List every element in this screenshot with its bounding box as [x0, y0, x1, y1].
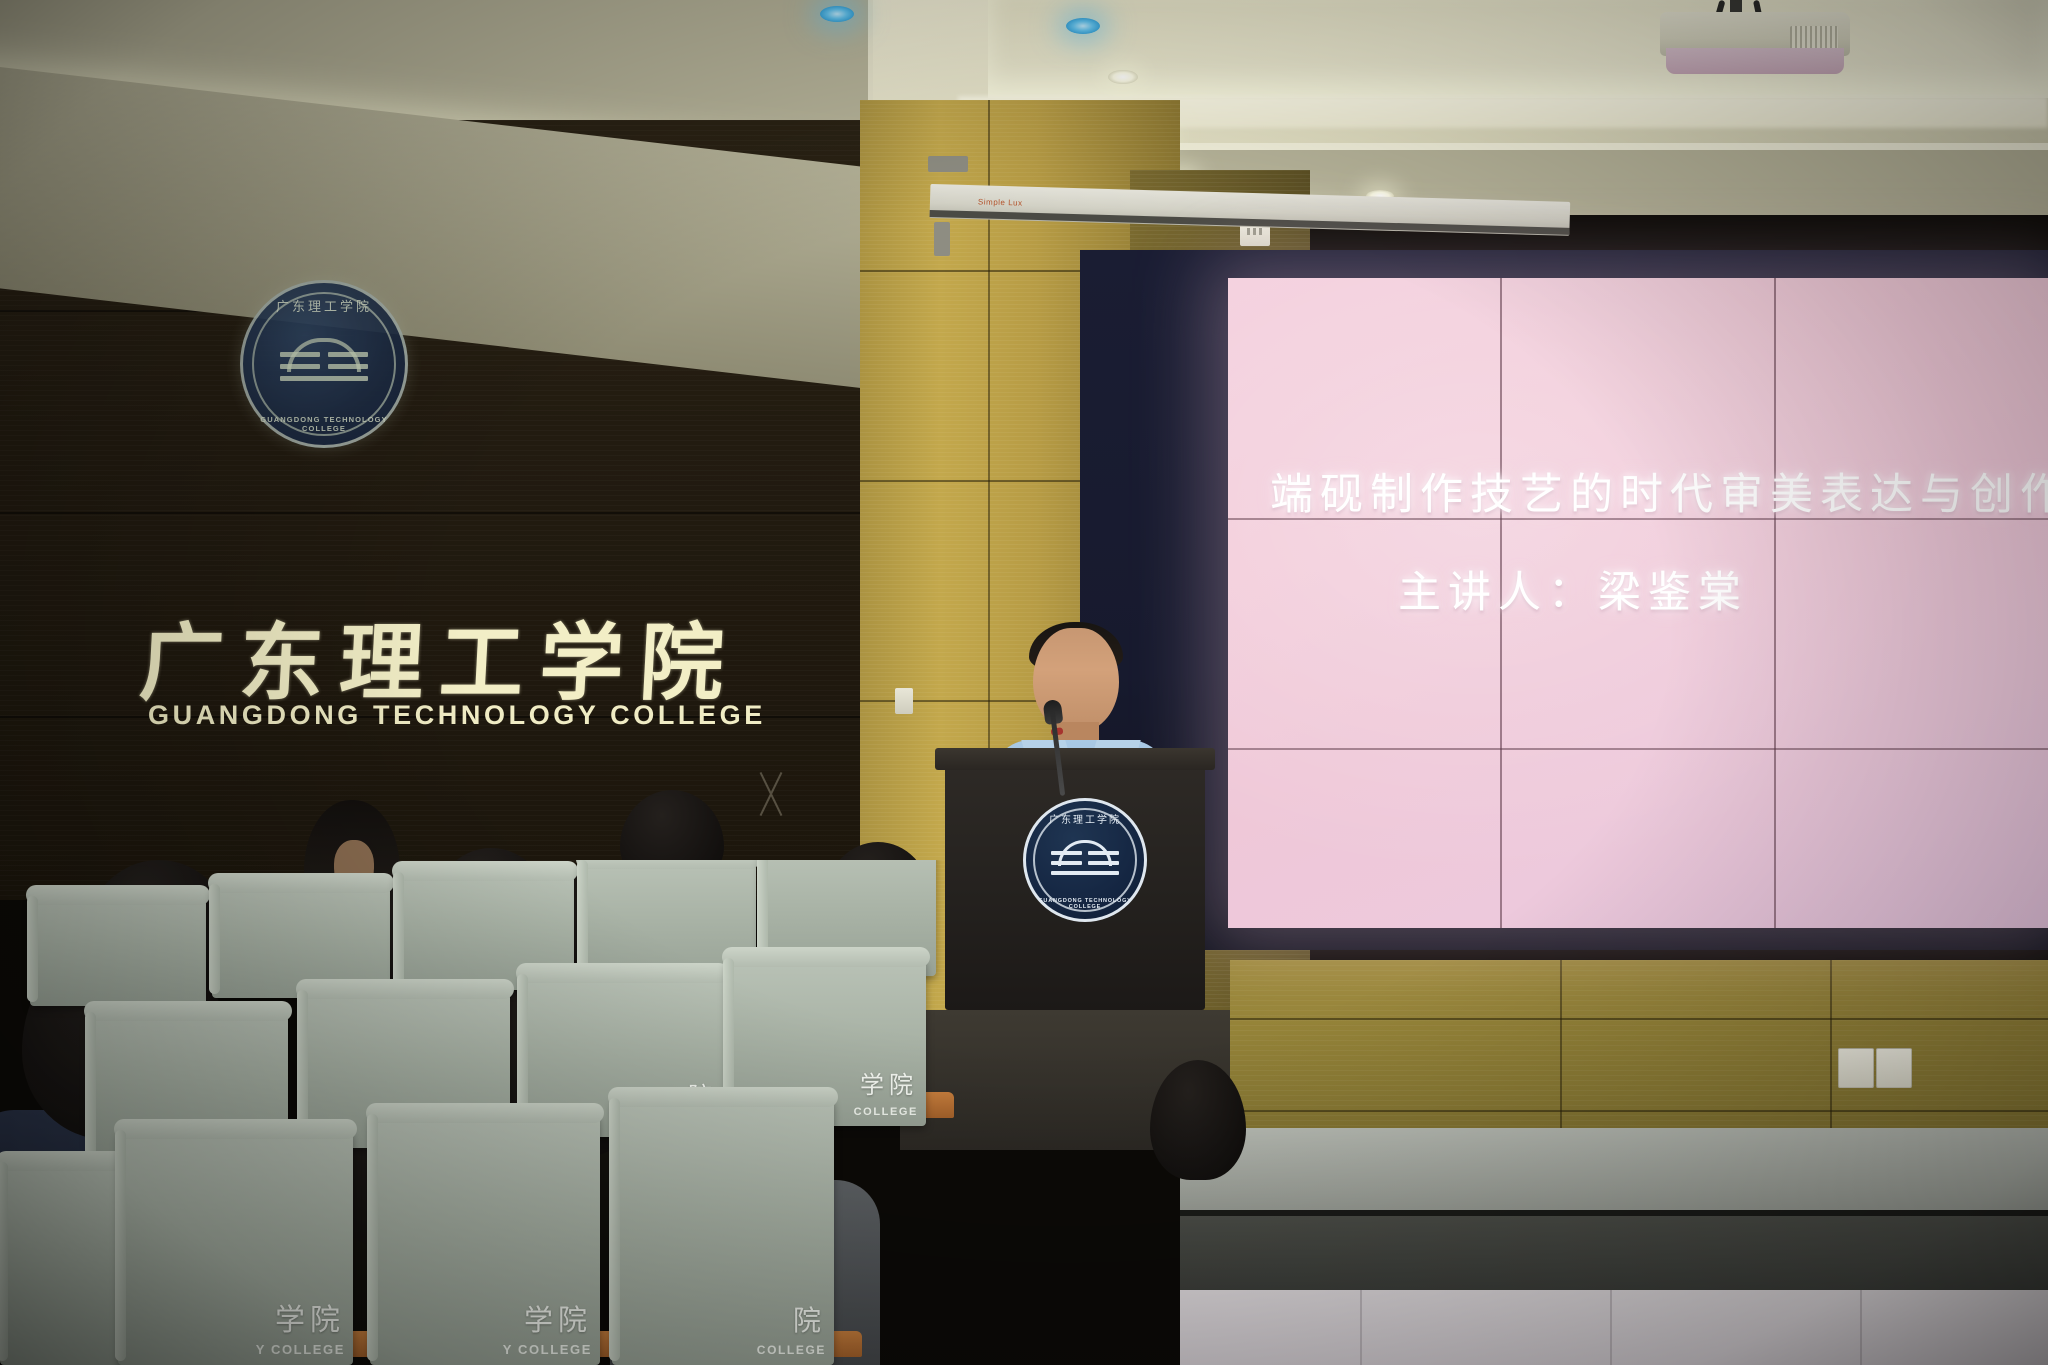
- wall-mark-x: [752, 772, 792, 816]
- emblem-english-text: GUANGDONG TECHNOLOGY COLLEGE: [243, 415, 405, 433]
- seat-label-chinese: 学院: [275, 1295, 345, 1339]
- floor-tiles: [1180, 1290, 2048, 1365]
- soffit-recess: [988, 0, 2048, 98]
- wall-college-emblem: 广东理工学院 GUANGDONG TECHNOLOGY COLLEGE: [240, 280, 408, 448]
- ceiling-projector: [1660, 4, 1860, 76]
- screen-bracket-left: [928, 156, 968, 172]
- slide-subtitle: 主讲人：梁鉴棠: [1398, 558, 1748, 620]
- emblem-chinese-text: 广东理工学院: [243, 296, 405, 315]
- seat-label-chinese: 学院: [860, 1065, 918, 1100]
- downlight-blue: [820, 6, 854, 22]
- light-switch-plate[interactable]: [1876, 1048, 1912, 1088]
- seat-label-chinese: 院: [793, 1299, 826, 1339]
- auditorium-seat[interactable]: 学院Y COLLEGE: [370, 1112, 600, 1365]
- podium-top-surface: [935, 748, 1215, 770]
- auditorium-seat[interactable]: 院COLLEGE: [612, 1096, 834, 1365]
- panel-seam-horizontal: [1228, 748, 2048, 750]
- seating-rows: 院COLLEGE学院COLLEGE学院Y COLLEGE学院Y COLLEGE院…: [0, 860, 1250, 1365]
- wall-light-switch[interactable]: [895, 688, 913, 714]
- emblem-book-icon: [276, 344, 372, 396]
- seat-label-english: COLLEGE: [854, 1106, 918, 1118]
- projector-base: [1666, 48, 1844, 74]
- podium-emblem-chinese: 广东理工学院: [1026, 811, 1144, 826]
- seat-label-chinese: 学院: [524, 1297, 592, 1339]
- wall-outlet-pair[interactable]: [1838, 1048, 1912, 1088]
- downlight-blue: [1066, 18, 1100, 34]
- seat-label-english: COLLEGE: [757, 1343, 826, 1357]
- slide-title: 端砚制作技艺的时代审美表达与创作: [1270, 460, 2048, 522]
- auditorium-photo: Simple Lux 广东理工学院 GUANGDONG TECHNOLOGY C…: [0, 0, 2048, 1365]
- screen-bracket-drop: [934, 222, 950, 256]
- screen-brand-label: Simple Lux: [978, 197, 1023, 207]
- stage-riser-face: [1180, 1210, 2048, 1302]
- seat-label-english: Y COLLEGE: [256, 1342, 345, 1357]
- panel-seam-vertical: [1774, 278, 1776, 928]
- downlight: [1108, 70, 1138, 84]
- auditorium-seat[interactable]: 学院Y COLLEGE: [118, 1128, 353, 1365]
- seat-label-english: Y COLLEGE: [503, 1342, 592, 1357]
- video-wall-display[interactable]: 端砚制作技艺的时代审美表达与创作 主讲人：梁鉴棠: [1228, 278, 2048, 928]
- wall-sign-chinese: 广东理工学院: [137, 596, 743, 717]
- auditorium-seat[interactable]: [30, 894, 206, 1006]
- power-socket[interactable]: [1838, 1048, 1874, 1088]
- wall-sign-english: GUANGDONG TECHNOLOGY COLLEGE: [148, 700, 766, 731]
